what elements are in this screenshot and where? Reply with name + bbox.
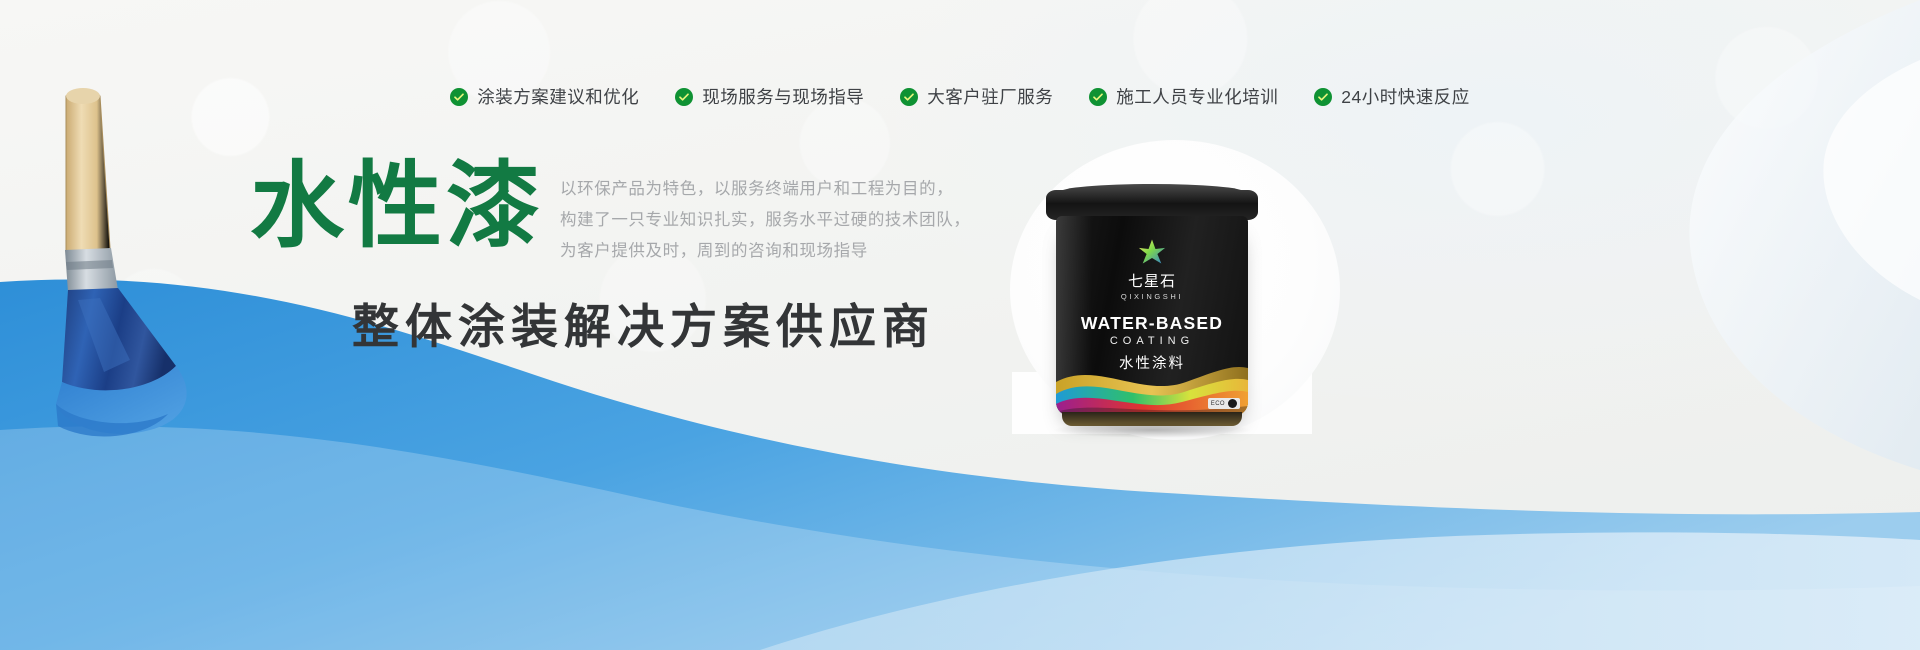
page-title: 水性漆 xyxy=(250,158,544,254)
feature-list: 涂装方案建议和优化 现场服务与现场指导 大客户驻厂服务 xyxy=(0,84,1920,109)
feature-item-3[interactable]: 施工人员专业化培训 xyxy=(1089,84,1278,109)
eco-label: ECO xyxy=(1211,401,1225,407)
eco-badge: ECO xyxy=(1208,398,1240,409)
hero-text-block: 水性漆 以环保产品为特色，以服务终端用户和工程为目的， 构建了一只专业知识扎实，… xyxy=(250,158,970,267)
brand-name-en: QIXINGSHI xyxy=(1056,292,1248,301)
brand-name-cn: 七星石 xyxy=(1056,270,1248,291)
bucket-shadow xyxy=(1052,422,1252,438)
product-image: 七星石 QIXINGSHI WATER-BASED COATING 水性涂料 xyxy=(1010,140,1410,470)
feature-label: 大客户驻厂服务 xyxy=(927,84,1053,109)
bucket-body: 七星石 QIXINGSHI WATER-BASED COATING 水性涂料 xyxy=(1056,216,1248,416)
hero-description-line: 构建了一只专业知识扎实，服务水平过硬的技术团队， xyxy=(560,205,970,236)
feature-item-1[interactable]: 现场服务与现场指导 xyxy=(675,84,864,109)
hero-description-line: 为客户提供及时，周到的咨询和现场指导 xyxy=(560,236,970,267)
feature-label: 施工人员专业化培训 xyxy=(1116,84,1278,109)
hero-description-line: 以环保产品为特色，以服务终端用户和工程为目的， xyxy=(560,174,970,205)
check-circle-icon xyxy=(675,88,693,106)
eco-dot-icon xyxy=(1228,399,1237,408)
hero-banner: 涂装方案建议和优化 现场服务与现场指导 大客户驻厂服务 xyxy=(0,0,1920,650)
feature-label: 涂装方案建议和优化 xyxy=(477,84,639,109)
feature-item-2[interactable]: 大客户驻厂服务 xyxy=(900,84,1053,109)
feature-item-0[interactable]: 涂装方案建议和优化 xyxy=(450,84,639,109)
check-circle-icon xyxy=(1314,88,1332,106)
check-circle-icon xyxy=(900,88,918,106)
hero-description: 以环保产品为特色，以服务终端用户和工程为目的， 构建了一只专业知识扎实，服务水平… xyxy=(560,158,970,267)
check-circle-icon xyxy=(1089,88,1107,106)
brand-logo: 七星石 QIXINGSHI xyxy=(1056,238,1248,301)
product-name-en-line1: WATER-BASED xyxy=(1056,313,1248,334)
check-circle-icon xyxy=(450,88,468,106)
paint-bucket-icon: 七星石 QIXINGSHI WATER-BASED COATING 水性涂料 xyxy=(1032,190,1272,470)
feature-item-4[interactable]: 24小时快速反应 xyxy=(1314,84,1469,109)
feature-label: 24小时快速反应 xyxy=(1341,84,1469,109)
feature-label: 现场服务与现场指导 xyxy=(702,84,864,109)
hero-subtitle: 整体涂装解决方案供应商 xyxy=(352,288,935,357)
star-icon xyxy=(1137,238,1167,268)
